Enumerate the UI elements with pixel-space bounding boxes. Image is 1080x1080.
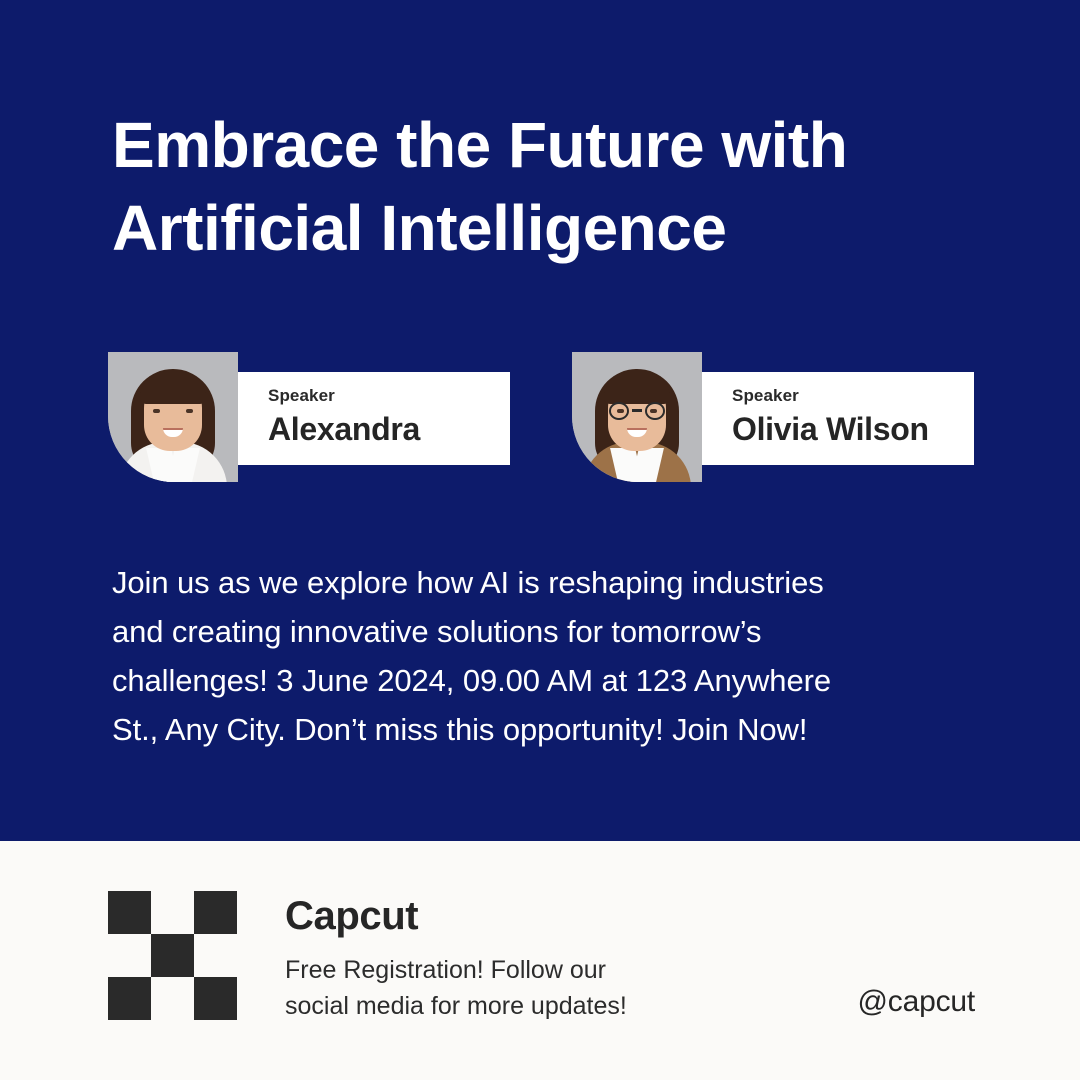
portrait-illustration (572, 352, 702, 482)
body-line-1: Join us as we explore how AI is reshapin… (112, 558, 992, 607)
speaker-card-olivia-wilson[interactable]: Speaker Olivia Wilson (572, 352, 974, 484)
tagline-line-2: social media for more updates! (285, 988, 715, 1024)
tagline-line-1: Free Registration! Follow our (285, 952, 715, 988)
checkerboard-logo-icon (108, 891, 237, 1020)
speaker-name: Olivia Wilson (732, 410, 974, 448)
hero-panel: Embrace the Future with Artificial Intel… (0, 0, 1080, 841)
event-description: Join us as we explore how AI is reshapin… (112, 558, 992, 754)
eyeglasses-icon (609, 402, 629, 420)
headline-line-1: Embrace the Future with (112, 104, 1012, 187)
body-line-3: challenges! 3 June 2024, 09.00 AM at 123… (112, 656, 992, 705)
portrait-illustration (108, 352, 238, 482)
body-line-4: St., Any City. Don’t miss this opportuni… (112, 705, 992, 754)
social-handle[interactable]: @capcut (858, 985, 975, 1019)
speaker-info-alexandra: Speaker Alexandra (237, 372, 510, 465)
speaker-card-alexandra[interactable]: Speaker Alexandra (108, 352, 510, 484)
event-poster: Embrace the Future with Artificial Intel… (0, 0, 1080, 1080)
speaker-role-label: Speaker (268, 386, 510, 406)
speaker-list: Speaker Alexandra (108, 352, 988, 484)
speaker-photo-alexandra (108, 352, 238, 482)
brand-block: Capcut Free Registration! Follow our soc… (285, 893, 715, 1024)
brand-name: Capcut (285, 893, 715, 939)
speaker-name: Alexandra (268, 410, 510, 448)
eyeglasses-icon (645, 402, 665, 420)
speaker-photo-olivia-wilson (572, 352, 702, 482)
brand-tagline: Free Registration! Follow our social med… (285, 952, 715, 1024)
body-line-2: and creating innovative solutions for to… (112, 607, 992, 656)
speaker-info-olivia-wilson: Speaker Olivia Wilson (701, 372, 974, 465)
page-title: Embrace the Future with Artificial Intel… (112, 104, 1012, 270)
speaker-role-label: Speaker (732, 386, 974, 406)
headline-line-2: Artificial Intelligence (112, 187, 1012, 270)
